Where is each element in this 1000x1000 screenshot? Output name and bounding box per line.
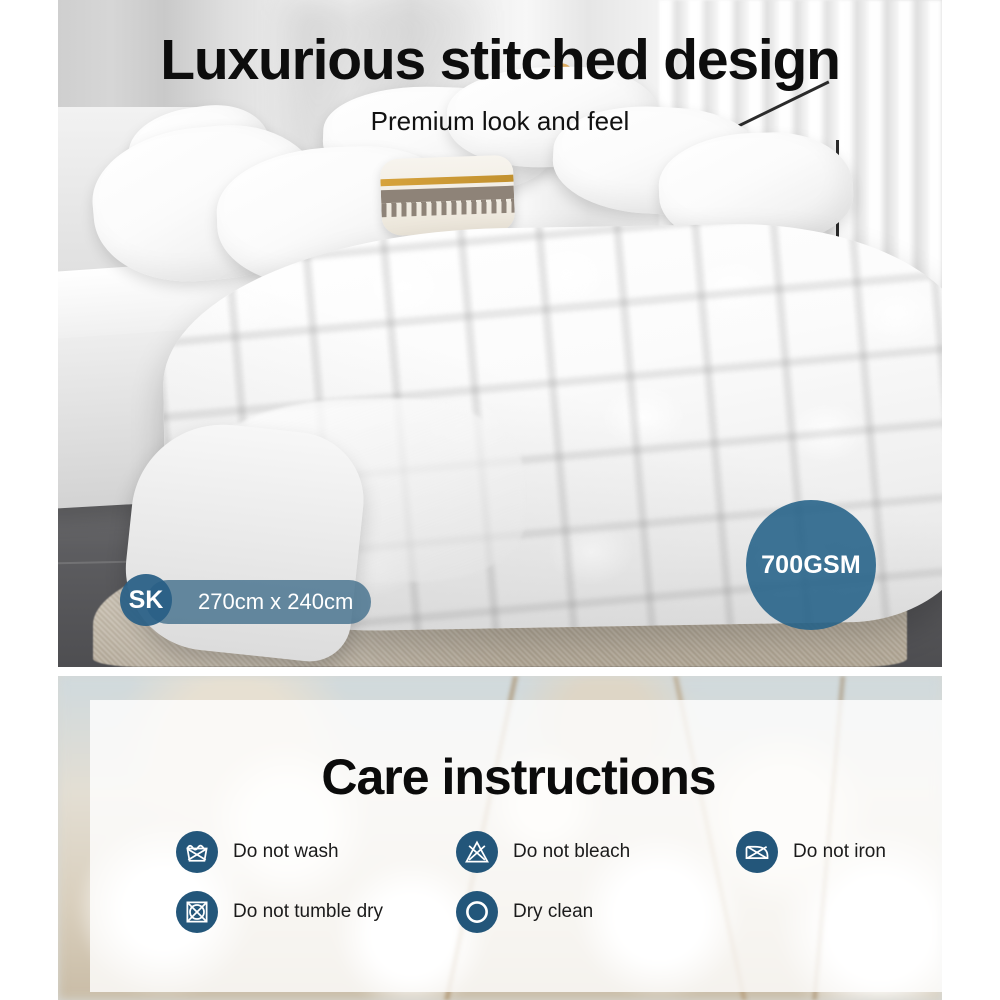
cushion-gold-band (380, 174, 513, 186)
product-infographic: Luxurious stitched design Premium look a… (0, 0, 1000, 1000)
care-item-do-not-iron: Do not iron (736, 831, 936, 873)
no-bleach-icon (456, 831, 498, 873)
no-iron-icon (736, 831, 778, 873)
care-title: Care instructions (90, 752, 942, 802)
duvet-draped-corner (117, 415, 369, 665)
hero-subheadline: Premium look and feel (58, 108, 942, 134)
dry-clean-icon (456, 891, 498, 933)
size-code-circle: SK (120, 574, 172, 626)
care-item-do-not-tumble-dry: Do not tumble dry (176, 891, 456, 933)
size-dimensions-pill: 270cm x 240cm (146, 580, 371, 624)
size-badge: 270cm x 240cm SK (120, 580, 172, 624)
care-row: Do not tumble dry Dry clean (176, 891, 936, 933)
accent-cushion (379, 154, 514, 235)
care-item-label: Do not bleach (513, 841, 630, 863)
no-tumble-dry-icon (176, 891, 218, 933)
care-instructions-panel: Care instructions Do not wash (58, 676, 942, 1000)
gsm-badge-label: 700GSM (761, 551, 861, 580)
care-white-overlay: Care instructions Do not wash (90, 700, 942, 992)
care-item-label: Do not iron (793, 841, 886, 863)
care-item-label: Do not tumble dry (233, 901, 383, 923)
care-item-label: Dry clean (513, 901, 593, 923)
size-dimensions-label: 270cm x 240cm (198, 589, 353, 615)
hero-headline: Luxurious stitched design (58, 32, 942, 89)
care-item-do-not-bleach: Do not bleach (456, 831, 736, 873)
size-code-label: SK (129, 586, 164, 615)
care-icon-grid: Do not wash Do not bleach (176, 831, 936, 951)
gsm-badge: 700GSM (746, 500, 876, 630)
hero-photo-panel: Luxurious stitched design Premium look a… (58, 0, 942, 667)
care-item-dry-clean: Dry clean (456, 891, 736, 933)
no-wash-icon (176, 831, 218, 873)
care-item-do-not-wash: Do not wash (176, 831, 456, 873)
care-item-label: Do not wash (233, 841, 339, 863)
care-row: Do not wash Do not bleach (176, 831, 936, 873)
